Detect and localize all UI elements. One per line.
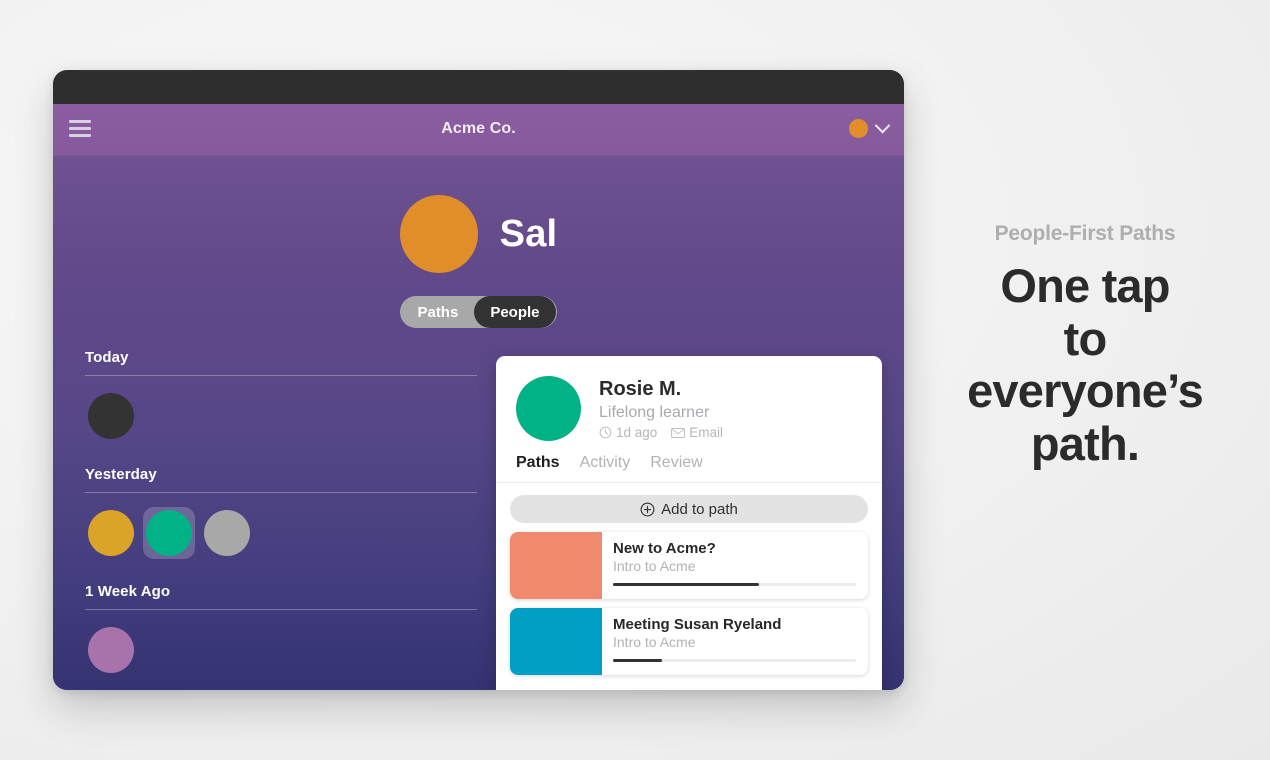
path-subtitle: Intro to Acme <box>613 634 856 650</box>
timeline-avatar-item[interactable] <box>201 507 253 559</box>
person-avatar <box>516 376 581 441</box>
profile-hero: Sal Paths People <box>53 153 904 326</box>
timeline-group-label: Today <box>85 349 477 366</box>
timeline-group-label: 1 Week Ago <box>85 583 477 600</box>
divider <box>85 375 477 376</box>
timeline-avatars <box>85 624 477 676</box>
email-meta[interactable]: Email <box>671 425 723 440</box>
app-screen: Acme Co. Sal Paths People Today <box>53 104 904 690</box>
device-frame: Acme Co. Sal Paths People Today <box>53 70 904 690</box>
plus-circle-icon <box>640 502 655 517</box>
avatar <box>88 393 134 439</box>
marketing-headline: One taptoeveryone’spath. <box>915 260 1255 471</box>
account-menu[interactable] <box>849 104 888 153</box>
timeline-group-week: 1 Week Ago <box>85 583 477 676</box>
path-title: Meeting Susan Ryeland <box>613 616 856 633</box>
profile-avatar <box>400 195 478 273</box>
account-avatar <box>849 119 868 138</box>
avatar <box>88 510 134 556</box>
tab-activity[interactable]: Activity <box>580 454 631 472</box>
divider <box>85 609 477 610</box>
chevron-down-icon <box>875 118 891 134</box>
profile-name: Sal <box>500 213 558 256</box>
add-to-path-label: Add to path <box>661 501 738 518</box>
timeline-avatar-item[interactable] <box>85 507 137 559</box>
tab-paths[interactable]: Paths <box>516 454 560 472</box>
app-bar: Acme Co. <box>53 104 904 153</box>
path-subtitle: Intro to Acme <box>613 558 856 574</box>
path-swatch <box>510 608 602 675</box>
card-tab-bar: Paths Activity Review <box>496 441 882 483</box>
avatar <box>88 627 134 673</box>
marketing-eyebrow: People-First Paths <box>915 222 1255 246</box>
path-body: New to Acme? Intro to Acme <box>602 532 868 599</box>
path-title: New to Acme? <box>613 540 856 557</box>
envelope-icon <box>671 427 685 439</box>
path-progress-track <box>613 659 856 662</box>
person-detail-card: Rosie M. Lifelong learner 1d ago <box>496 356 882 690</box>
clock-icon <box>599 426 612 439</box>
last-seen-text: 1d ago <box>616 425 657 440</box>
path-progress-track <box>613 583 856 586</box>
person-subtitle: Lifelong learner <box>599 404 723 422</box>
timeline-avatar-item[interactable] <box>85 390 137 442</box>
timeline-avatar-item[interactable] <box>85 624 137 676</box>
divider <box>85 492 477 493</box>
avatar <box>146 510 192 556</box>
timeline-group-label: Yesterday <box>85 466 477 483</box>
timeline-avatars <box>85 507 477 559</box>
segment-people[interactable]: People <box>474 296 555 328</box>
timeline-group-today: Today <box>85 349 477 442</box>
app-title: Acme Co. <box>53 120 904 138</box>
tab-review[interactable]: Review <box>650 454 702 472</box>
path-progress-fill <box>613 583 759 586</box>
add-to-path-button[interactable]: Add to path <box>510 495 868 523</box>
last-seen-meta: 1d ago <box>599 425 657 440</box>
card-header: Rosie M. Lifelong learner 1d ago <box>496 356 882 441</box>
person-info: Rosie M. Lifelong learner 1d ago <box>599 376 723 441</box>
timeline-avatars <box>85 390 477 442</box>
path-list-item[interactable]: Meeting Susan Ryeland Intro to Acme <box>510 608 868 675</box>
hamburger-menu-icon[interactable] <box>69 120 91 137</box>
marketing-copy: People-First Paths One taptoeveryone’spa… <box>915 222 1255 471</box>
paths-people-toggle[interactable]: Paths People <box>400 296 556 328</box>
activity-timeline: Today Yesterday <box>85 349 477 690</box>
person-meta: 1d ago Email <box>599 425 723 440</box>
timeline-group-yesterday: Yesterday <box>85 466 477 559</box>
profile-identity: Sal <box>400 195 558 273</box>
segment-paths[interactable]: Paths <box>401 296 474 328</box>
path-swatch <box>510 532 602 599</box>
person-name: Rosie M. <box>599 378 723 401</box>
email-text: Email <box>689 425 723 440</box>
timeline-avatar-item-selected[interactable] <box>143 507 195 559</box>
path-body: Meeting Susan Ryeland Intro to Acme <box>602 608 868 675</box>
path-progress-fill <box>613 659 662 662</box>
path-list-item[interactable]: New to Acme? Intro to Acme <box>510 532 868 599</box>
avatar <box>204 510 250 556</box>
